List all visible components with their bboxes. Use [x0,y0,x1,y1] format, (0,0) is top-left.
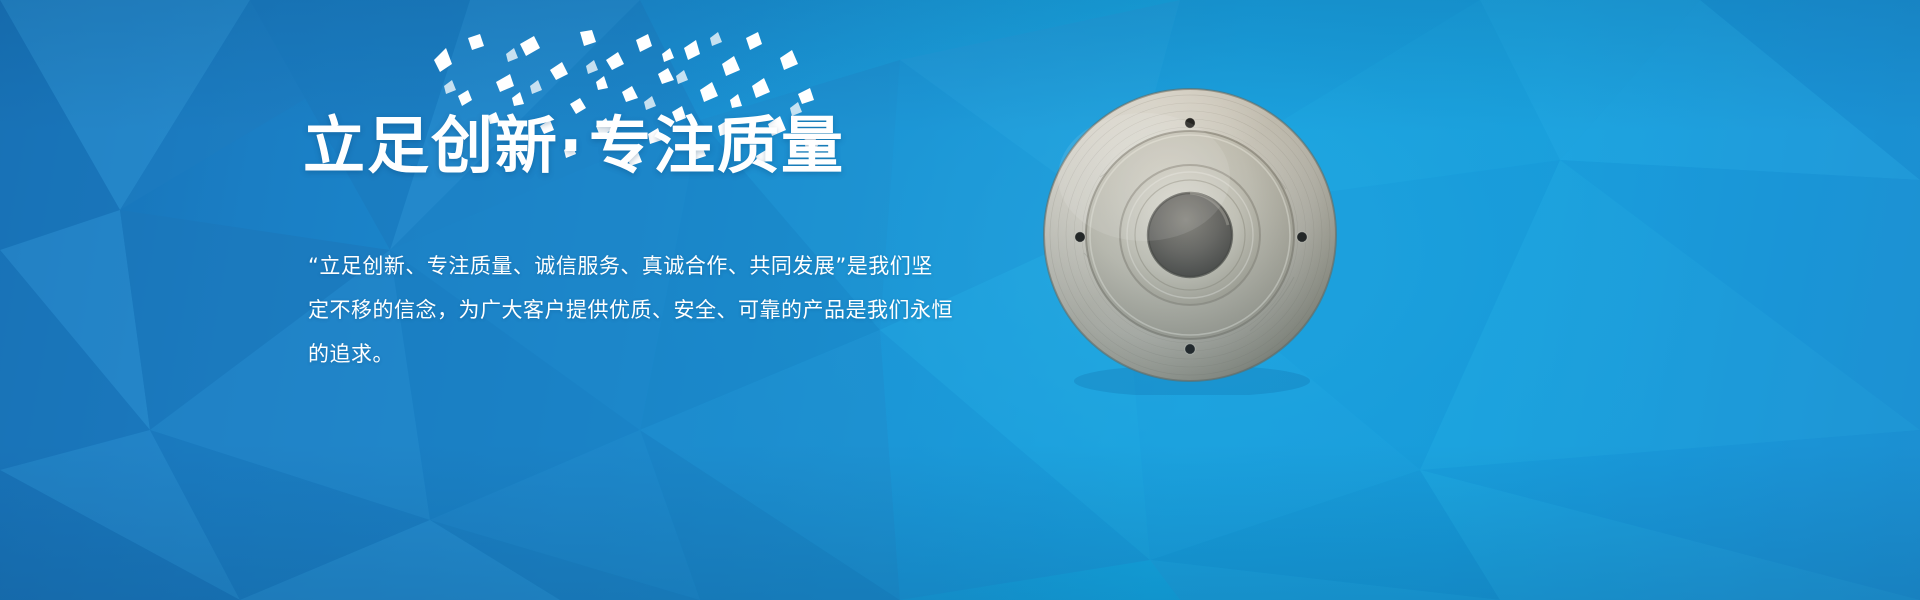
product-image-metal-flange [1040,85,1350,395]
headline-right-text: 专注质量 [589,109,845,182]
banner-description: “立足创新、专注质量、诚信服务、真诚合作、共同发展”是我们坚 定不移的信念，为广… [308,244,968,376]
hero-banner: 立足创新·专注质量 “立足创新、专注质量、诚信服务、真诚合作、共同发展”是我们坚… [0,0,1920,600]
description-line-3: 的追求。 [308,332,968,376]
headline-separator: · [559,115,589,177]
banner-headline: 立足创新·专注质量 [303,115,845,177]
description-line-1: “立足创新、专注质量、诚信服务、真诚合作、共同发展”是我们坚 [308,244,968,288]
description-line-2: 定不移的信念，为广大客户提供优质、安全、可靠的产品是我们永恒 [308,288,968,332]
headline-left-text: 立足创新 [303,109,559,182]
